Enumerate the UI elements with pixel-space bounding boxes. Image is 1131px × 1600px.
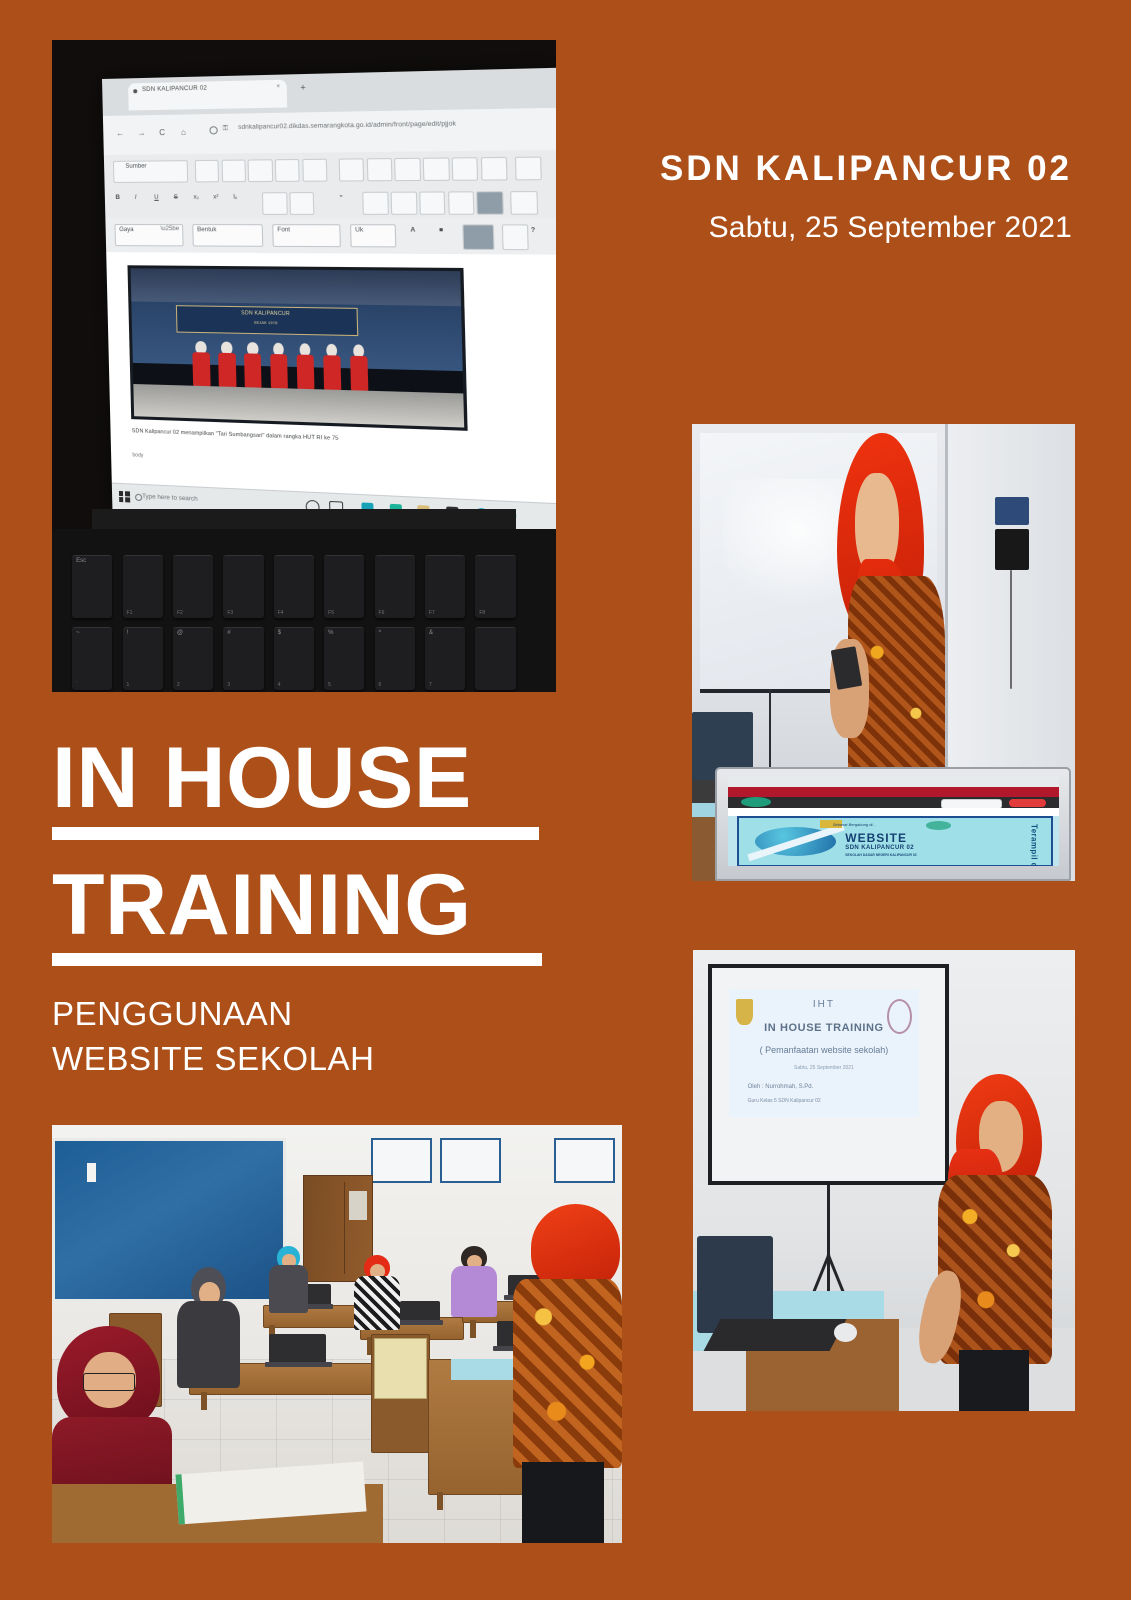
laptop-website-screen: Selamat Bergabung di... WEBSITE SDN KALI… <box>728 776 1059 866</box>
reload-icon[interactable]: C <box>159 128 165 137</box>
key-f4[interactable]: F4 <box>274 555 314 618</box>
body <box>177 1301 240 1388</box>
bg-color-button[interactable]: ■ <box>439 228 443 234</box>
key-7[interactable]: &7 <box>425 627 465 690</box>
slide-date: Sabtu, 25 September 2021 <box>729 1065 920 1071</box>
subtitle-block: PENGGUNAAN WEBSITE SEKOLAH <box>52 992 375 1081</box>
title-line-2: TRAINING <box>52 864 542 947</box>
dancer-figure <box>350 344 369 390</box>
participant-figure <box>177 1267 240 1388</box>
hero-side-text: Terampil dalam IT <box>1029 824 1038 866</box>
hero-tagline: SEKOLAH DASAR NEGERI KALIPANCUR 02 <box>845 853 916 857</box>
site-cta-button[interactable] <box>1009 799 1045 807</box>
key-tilde[interactable]: ~` <box>72 627 112 690</box>
editor-content-area[interactable]: SDN KALIPANCUR SEJAK 1978 SDN Kalipancur… <box>107 252 556 505</box>
bold-button[interactable]: B <box>116 195 120 201</box>
key-f2[interactable]: F2 <box>173 555 213 618</box>
numbered-list-icon[interactable] <box>263 192 288 215</box>
site-hero-banner: Selamat Bergabung di... WEBSITE SDN KALI… <box>737 816 1052 865</box>
slide-title: IN HOUSE TRAINING <box>729 1022 920 1034</box>
strikethrough-button[interactable]: S <box>174 195 178 201</box>
save-icon[interactable] <box>195 160 220 183</box>
editor-toolbar-row-1: Sumber <box>104 150 556 188</box>
board-notice-paper <box>87 1163 96 1182</box>
style-select[interactable]: Gaya \u25be <box>114 224 184 247</box>
hero-greeting: Selamat Bergabung di... <box>833 822 876 827</box>
paste-text-icon[interactable] <box>423 158 450 182</box>
insert-image-icon[interactable] <box>477 191 504 215</box>
photo-ground <box>134 384 465 428</box>
redo-icon[interactable] <box>481 157 508 181</box>
underline-button[interactable]: U <box>155 195 160 201</box>
browser-chrome <box>728 776 1059 787</box>
font-select[interactable]: Font <box>272 224 341 248</box>
url-text[interactable]: sdnkalipancur02.dikdas.semarangkota.go.i… <box>238 121 456 132</box>
key-f7[interactable]: F7 <box>425 555 465 618</box>
school-name: SDN KALIPANCUR 02 <box>560 150 1072 189</box>
wall-outlet <box>995 497 1029 524</box>
title-underline-1 <box>52 827 539 840</box>
dancer-figure <box>270 343 288 389</box>
presenter-with-slide-photo: IHT IN HOUSE TRAINING ( Pemanfaatan webs… <box>693 950 1075 1411</box>
poster-root: SDN KALIPANCUR 02 Sabtu, 25 September 20… <box>0 0 1131 1600</box>
hero-subtitle: SDN KALIPANCUR 02 <box>845 845 914 851</box>
print-icon[interactable] <box>275 159 300 182</box>
find-icon[interactable] <box>515 157 542 181</box>
site-nav-bar <box>728 808 1059 816</box>
batik-outfit <box>513 1279 622 1469</box>
copy-icon[interactable] <box>367 158 393 181</box>
event-date: Sabtu, 25 September 2021 <box>560 211 1072 244</box>
laptop-keyboard <box>704 1319 847 1351</box>
projection-screen-frame: IHT IN HOUSE TRAINING ( Pemanfaatan webs… <box>708 964 949 1185</box>
format-select-value: Bentuk <box>198 227 217 233</box>
cabinet-glass-panel <box>349 1191 367 1220</box>
site-top-bar <box>728 787 1059 797</box>
hanging-cord <box>1010 570 1012 689</box>
subscript-button[interactable]: x₂ <box>194 195 200 201</box>
window-pane <box>371 1138 432 1184</box>
presenter-figure <box>508 1204 622 1543</box>
window-pane <box>440 1138 501 1184</box>
participant-figure <box>354 1255 400 1330</box>
key-1[interactable]: !1 <box>123 627 163 690</box>
slide-affiliation: Guru Kelas 5 SDN Kalipancur 02 <box>748 1098 821 1104</box>
shield-icon <box>210 126 218 134</box>
browser-tab[interactable]: SDN KALIPANCUR 02 × <box>128 80 287 111</box>
photo-banner: SDN KALIPANCUR SEJAK 1978 <box>176 305 358 336</box>
superscript-button[interactable]: x² <box>214 195 219 201</box>
style-select-value: Gaya <box>119 227 134 233</box>
align-left-icon[interactable] <box>363 191 389 214</box>
templates-icon[interactable] <box>302 159 328 182</box>
paste-icon[interactable] <box>395 158 421 182</box>
undo-icon[interactable] <box>452 157 479 181</box>
presenter-trousers <box>959 1350 1029 1411</box>
presenter-figure <box>922 1074 1052 1411</box>
foreground-laptop: Selamat Bergabung di... WEBSITE SDN KALI… <box>715 767 1071 881</box>
key-f6[interactable]: F6 <box>375 555 415 618</box>
banner-line-2: SEJAK 1978 <box>178 319 358 326</box>
chevron-down-icon: \u25be <box>161 224 180 236</box>
maximize-icon[interactable] <box>463 225 495 250</box>
taskbar-search-input[interactable]: Type here to search <box>142 493 198 503</box>
dancer-figure <box>297 343 315 389</box>
computer-mouse <box>834 1323 857 1341</box>
favicon-icon <box>133 90 137 94</box>
key-esc[interactable]: Esc <box>72 555 112 618</box>
eyeglasses-icon <box>83 1373 135 1390</box>
align-center-icon[interactable] <box>391 191 417 214</box>
laptop-hinge <box>92 509 515 529</box>
participant-laptop <box>400 1301 440 1322</box>
subtitle-line-2: WEBSITE SEKOLAH <box>52 1037 375 1082</box>
presenter-trousers <box>522 1462 604 1543</box>
banner-line-1: SDN KALIPANCUR <box>177 309 357 318</box>
participant-figure <box>269 1246 309 1313</box>
key-f8[interactable]: F8 <box>475 555 515 618</box>
source-button[interactable] <box>113 160 189 183</box>
preview-icon[interactable] <box>248 159 273 182</box>
slide-acronym: IHT <box>729 999 920 1010</box>
key-3[interactable]: #3 <box>223 627 263 690</box>
new-page-icon[interactable] <box>222 160 247 183</box>
key-6[interactable]: ^6 <box>375 627 415 690</box>
blue-board <box>52 1138 286 1303</box>
size-select-value: Uk <box>355 227 363 233</box>
cut-icon[interactable] <box>339 159 365 182</box>
title-underline-2 <box>52 953 542 966</box>
laptop-screen: SDN KALIPANCUR 02 × + ← → C ⌂ ⚿ sdnkalip… <box>102 68 556 541</box>
subtitle-line-1: PENGGUNAAN <box>52 992 375 1037</box>
size-select[interactable]: Uk <box>350 224 397 248</box>
blockquote-button[interactable]: ” <box>340 194 343 203</box>
body <box>354 1276 400 1330</box>
format-select[interactable]: Bentuk <box>192 224 264 247</box>
italic-button[interactable]: I <box>135 195 137 201</box>
dancer-figure <box>193 341 211 386</box>
align-justify-icon[interactable] <box>448 191 475 215</box>
slide-subtitle: ( Pemanfaatan website sekolah) <box>729 1045 920 1055</box>
key-4[interactable]: $4 <box>274 627 314 690</box>
laptop-keyboard-base: Esc F1 F2 F3 F4 F5 F6 F7 F8 ~` !1 @2 #3 … <box>52 529 556 692</box>
main-title-block: IN HOUSE TRAINING <box>52 737 542 990</box>
show-blocks-icon[interactable] <box>502 225 529 250</box>
text-color-button[interactable]: A <box>411 228 416 234</box>
participant-figure <box>451 1246 497 1317</box>
body <box>269 1265 309 1313</box>
embedded-photo-caption: SDN Kalipancur 02 menampilkan "Tari Sumb… <box>132 429 537 450</box>
window-pane <box>554 1138 615 1184</box>
hero-title: WEBSITE <box>845 831 907 845</box>
header-text-block: SDN KALIPANCUR 02 Sabtu, 25 September 20… <box>560 150 1072 244</box>
lock-icon: ⚿ <box>223 125 229 133</box>
classroom-participants-photo <box>52 1125 622 1543</box>
embedded-photo: SDN KALIPANCUR SEJAK 1978 <box>128 266 468 431</box>
title-line-1: IN HOUSE <box>52 737 542 820</box>
new-tab-icon[interactable]: + <box>301 83 307 93</box>
dancer-figure <box>244 342 262 388</box>
batik-outfit <box>938 1175 1052 1363</box>
presentation-slide: IHT IN HOUSE TRAINING ( Pemanfaatan webs… <box>729 989 920 1117</box>
browser-url-bar: ← → C ⌂ ⚿ sdnkalipancur02.dikdas.semaran… <box>103 108 556 156</box>
home-icon[interactable]: ⌂ <box>181 127 186 136</box>
key-f3[interactable]: F3 <box>223 555 263 618</box>
presenter-with-phone-photo: Selamat Bergabung di... WEBSITE SDN KALI… <box>692 424 1075 881</box>
editor-toolbar-row-3: Gaya \u25be Bentuk Font Uk A ■ ? <box>106 218 556 255</box>
editor-toolbar-row-2: B I U S x₂ x² Iₓ ” <box>105 184 556 219</box>
laptop-browser-photo: SDN KALIPANCUR 02 × + ← → C ⌂ ⚿ sdnkalip… <box>52 40 556 692</box>
key-f5[interactable]: F5 <box>324 555 364 618</box>
editor-path-label: body <box>133 452 144 458</box>
remove-format-button[interactable]: Iₓ <box>234 195 238 201</box>
insert-table-icon[interactable] <box>511 191 538 215</box>
dancer-figure <box>323 344 342 390</box>
key-5[interactable]: %5 <box>324 627 364 690</box>
key-8[interactable] <box>475 627 515 690</box>
dancer-figure <box>219 342 237 387</box>
school-seal-icon <box>926 821 951 829</box>
key-2[interactable]: @2 <box>173 627 213 690</box>
chair-cushion <box>374 1338 427 1399</box>
bulleted-list-icon[interactable] <box>290 192 315 215</box>
wall-switch-box <box>995 529 1029 570</box>
key-f1[interactable]: F1 <box>123 555 163 618</box>
font-select-value: Font <box>278 227 291 233</box>
align-right-icon[interactable] <box>419 191 446 214</box>
browser-tab-title: SDN KALIPANCUR 02 <box>142 86 207 94</box>
forward-icon[interactable]: → <box>138 128 146 137</box>
close-icon[interactable]: × <box>277 84 281 90</box>
slide-presenter: Oleh : Nurrohmah, S.Pd. <box>748 1084 814 1090</box>
participant-laptop <box>269 1334 326 1363</box>
source-label: Sumber <box>126 163 147 169</box>
help-button[interactable]: ? <box>531 228 535 234</box>
body <box>451 1266 497 1317</box>
windows-start-icon[interactable] <box>119 491 130 503</box>
back-icon[interactable]: ← <box>116 128 124 137</box>
